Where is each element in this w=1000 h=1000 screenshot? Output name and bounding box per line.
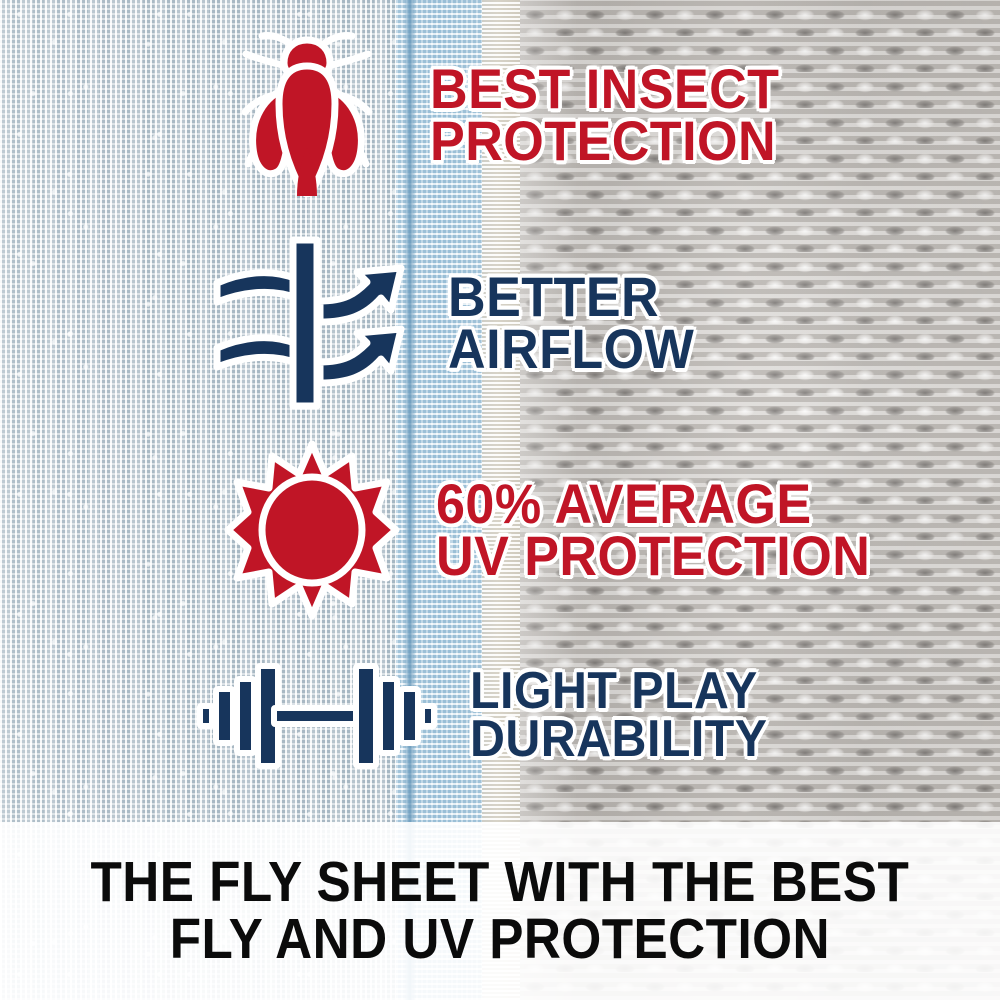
feature-row-airflow: BETTER AIRFLOW (205, 238, 713, 408)
banner-headline: THE FLY SHEET WITH THE BEST FLY AND UV P… (91, 854, 910, 968)
dumbbell-icon (196, 660, 436, 772)
infographic-canvas: BEST INSECT PROTECTION BETTER AIRF (0, 0, 1000, 1000)
feature-row-durability: LIGHT PLAY DURABILITY (196, 660, 790, 772)
feature-label-durability: LIGHT PLAY DURABILITY (470, 668, 767, 764)
feature-label-insect-protection: BEST INSECT PROTECTION (430, 63, 779, 166)
feature-row-insect-protection: BEST INSECT PROTECTION (232, 22, 806, 208)
feature-label-uv-protection: 60% AVERAGE UV PROTECTION (436, 478, 870, 581)
feature-label-airflow: BETTER AIRFLOW (448, 271, 694, 374)
fly-icon (232, 22, 382, 208)
airflow-icon (205, 238, 410, 408)
sun-icon (224, 440, 400, 620)
feature-row-uv-protection: 60% AVERAGE UV PROTECTION (224, 440, 903, 620)
bottom-banner: THE FLY SHEET WITH THE BEST FLY AND UV P… (0, 822, 1000, 1000)
